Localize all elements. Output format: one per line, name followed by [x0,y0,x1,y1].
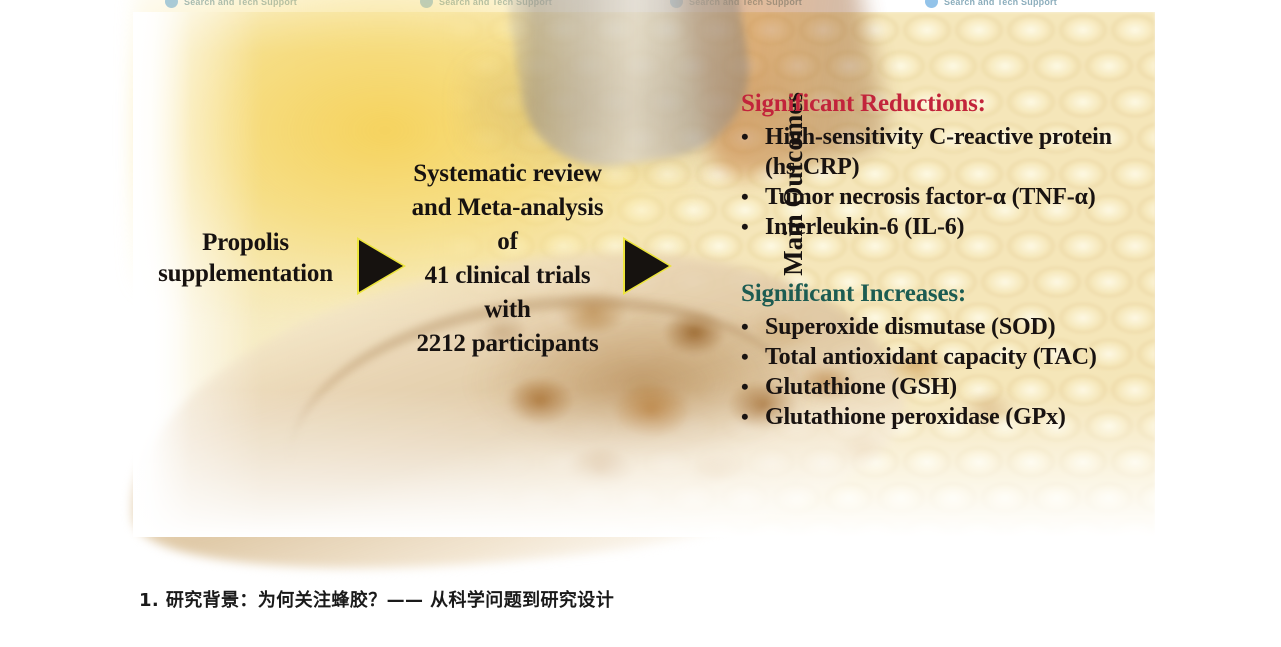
bullet-icon: • [741,312,765,342]
significant-reductions-list: • High-sensitivity C-reactive protein (h… [741,122,1155,242]
bullet-icon: • [741,122,765,152]
list-item-label: High-sensitivity C-reactive protein (hs-… [765,122,1155,182]
significant-increases-heading: Significant Increases: [741,279,1097,309]
section-caption: 1. 研究背景：为何关注蜂胶？—— 从科学问题到研究设计 [139,588,614,614]
list-item: • High-sensitivity C-reactive protein (h… [741,122,1155,182]
list-item: • Glutathione peroxidase (GPx) [741,402,1097,432]
arrow-fill [625,240,669,292]
list-item-label: Interleukin-6 (IL-6) [765,212,1155,242]
list-item-label: Total antioxidant capacity (TAC) [765,342,1097,372]
bullet-icon: • [741,372,765,402]
list-item-label: Tumor necrosis factor-α (TNF-α) [765,182,1155,212]
bullet-icon: • [741,342,765,372]
arrow-fill [359,240,403,292]
list-item-label: Glutathione (GSH) [765,372,1097,402]
watermark-item: Search and Tech Support [925,0,1057,8]
list-item: • Interleukin-6 (IL-6) [741,212,1155,242]
graphical-abstract-figure: Propolis supplementation Systematic revi… [133,12,1155,537]
figure-input-label: Propolis supplementation [133,227,358,289]
significant-reductions-heading: Significant Reductions: [741,89,1155,119]
list-item: • Glutathione (GSH) [741,372,1097,402]
significant-increases-list: • Superoxide dismutase (SOD) • Total ant… [741,312,1097,432]
significant-reductions-block: Significant Reductions: • High-sensitivi… [741,89,1155,242]
watermark-label: Search and Tech Support [944,0,1057,7]
bullet-icon: • [741,182,765,212]
list-item: • Total antioxidant capacity (TAC) [741,342,1097,372]
bullet-icon: • [741,212,765,242]
list-item-label: Superoxide dismutase (SOD) [765,312,1097,342]
bullet-icon: • [741,402,765,432]
circle-logo-icon [925,0,938,8]
figure-method-label: Systematic review and Meta-analysis of 4… [375,157,640,361]
list-item: • Tumor necrosis factor-α (TNF-α) [741,182,1155,212]
list-item: • Superoxide dismutase (SOD) [741,312,1097,342]
significant-increases-block: Significant Increases: • Superoxide dism… [741,279,1097,432]
list-item-label: Glutathione peroxidase (GPx) [765,402,1097,432]
